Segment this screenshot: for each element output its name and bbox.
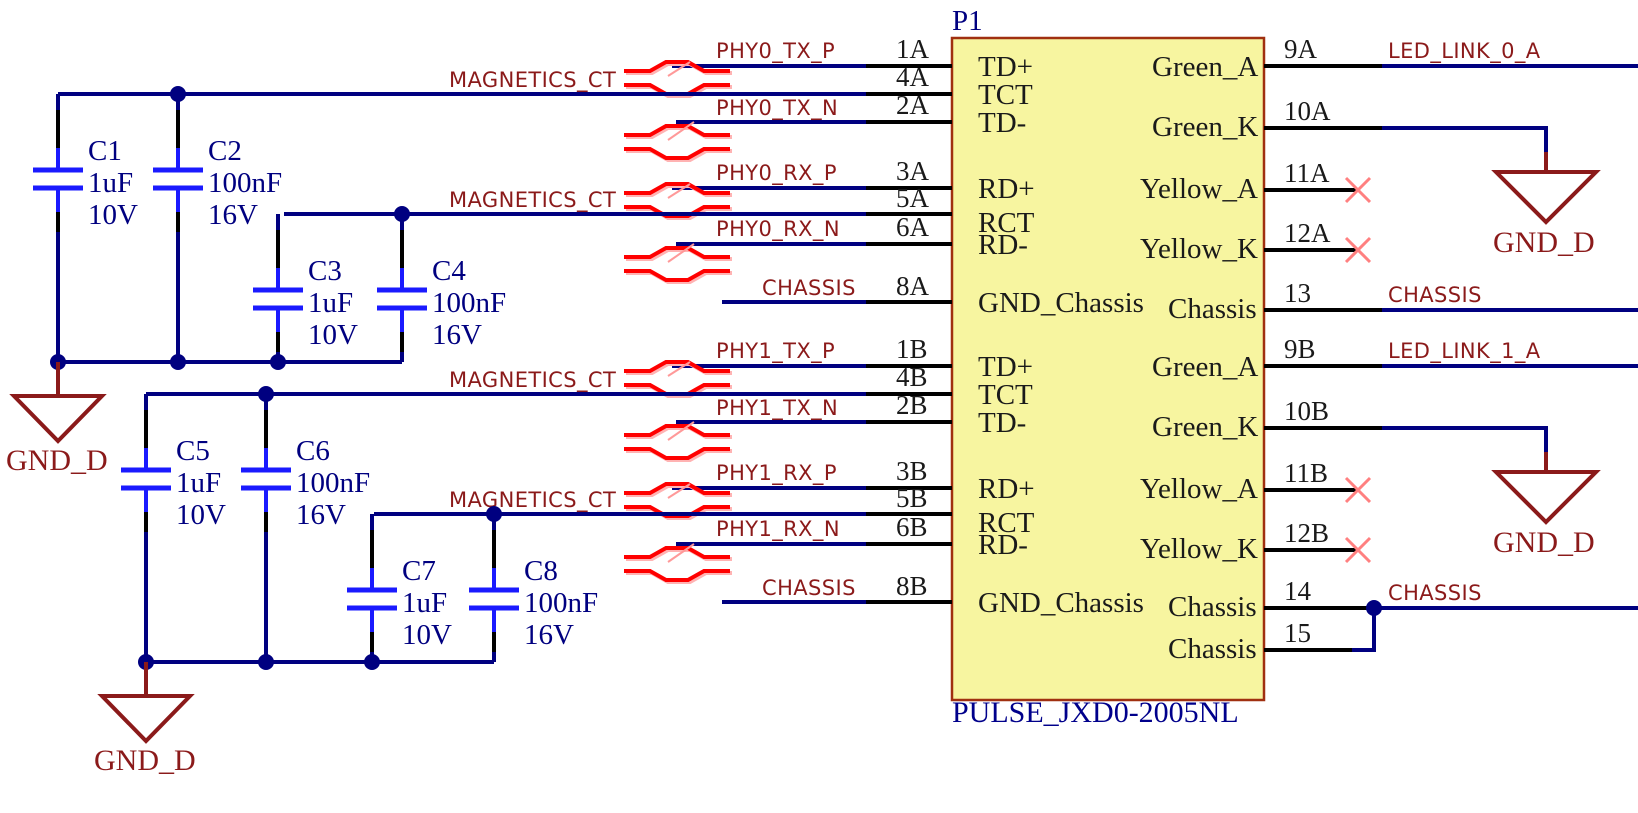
- capacitor-ref-C7: C7: [402, 555, 436, 587]
- capacitor-ref-C4: C4: [432, 255, 466, 287]
- junction-dot-bot-2: [486, 506, 502, 522]
- pin-number-1B: 1B: [896, 334, 928, 364]
- pin-number-9B: 9B: [1284, 334, 1316, 364]
- capacitor-C6[interactable]: C6 100nF 16V: [241, 435, 370, 531]
- capacitor-C4[interactable]: C4 100nF 16V: [377, 255, 506, 351]
- capacitor-ref-C1: C1: [88, 135, 122, 167]
- junction-dot-chassis: [1366, 600, 1382, 616]
- capacitor-C8[interactable]: C8 100nF 16V: [469, 555, 598, 651]
- pin-number-11A: 11A: [1284, 158, 1330, 188]
- pin-number-6A: 6A: [896, 212, 930, 242]
- capacitor-value-C7: 1uF: [402, 587, 447, 619]
- ground-label-3: GND_D: [94, 744, 196, 777]
- pin-number-2A: 2A: [896, 90, 930, 120]
- ground-symbol-2: GND_D: [1493, 152, 1596, 259]
- pin-name-chassis-13: Chassis: [1168, 293, 1257, 325]
- schematic-sheet: P1 PULSE_JXD0-2005NL PHY0_TX_P 1A TD+ MA…: [0, 0, 1638, 813]
- capacitor-value-C8: 100nF: [524, 587, 598, 619]
- net-label-chassis-b[interactable]: CHASSIS: [762, 576, 856, 600]
- pin-name-gnd-chassis-b: GND_Chassis: [978, 587, 1144, 619]
- capacitor-ref-C5: C5: [176, 435, 210, 467]
- ground-symbol-4: GND_D: [1493, 452, 1596, 559]
- pin-number-10B: 10B: [1284, 396, 1329, 426]
- capacitor-voltage-C8: 16V: [524, 619, 574, 651]
- pin-number-3A: 3A: [896, 156, 930, 186]
- capacitor-ref-C8: C8: [524, 555, 558, 587]
- net-label-phy0-tx-n[interactable]: PHY0_TX_N: [716, 96, 838, 121]
- capacitor-value-C5: 1uF: [176, 467, 221, 499]
- capacitor-voltage-C2: 16V: [208, 199, 258, 231]
- capacitor-value-C4: 100nF: [432, 287, 506, 319]
- pin-number-9A: 9A: [1284, 34, 1318, 64]
- pin-row-4A[interactable]: MAGNETICS_CT 4A TCT: [58, 62, 1033, 111]
- capacitor-voltage-C6: 16V: [296, 499, 346, 531]
- ground-symbol-1: GND_D: [6, 362, 108, 477]
- ground-label-1: GND_D: [6, 444, 108, 477]
- junction-dot-top-5: [270, 354, 286, 370]
- pin-number-8A: 8A: [896, 271, 930, 301]
- capacitor-value-C1: 1uF: [88, 167, 133, 199]
- pin-name-RDn-A: RD-: [978, 229, 1028, 261]
- net-label-phy1-rx-n[interactable]: PHY1_RX_N: [716, 517, 840, 542]
- pin-number-3B: 3B: [896, 456, 928, 486]
- net-label-phy0-tx-p[interactable]: PHY0_TX_P: [716, 39, 835, 64]
- pin-number-6B: 6B: [896, 512, 928, 542]
- pin-number-8B: 8B: [896, 571, 928, 601]
- net-label-phy1-tx-p[interactable]: PHY1_TX_P: [716, 339, 835, 364]
- capacitor-voltage-C5: 10V: [176, 499, 226, 531]
- net-label-chassis-14[interactable]: CHASSIS: [1388, 581, 1482, 605]
- pin-number-13: 13: [1284, 278, 1311, 308]
- pin-name-green-k-2: Green_K: [1152, 411, 1258, 443]
- net-label-phy1-tx-n[interactable]: PHY1_TX_N: [716, 396, 838, 421]
- connector-part-number: PULSE_JXD0-2005NL: [952, 696, 1239, 729]
- pin-name-green-a-1: Green_A: [1152, 51, 1258, 83]
- capacitor-voltage-C4: 16V: [432, 319, 482, 351]
- pin-name-yellow-k-2: Yellow_K: [1140, 533, 1258, 565]
- capacitor-voltage-C7: 10V: [402, 619, 452, 651]
- pin-number-4A: 4A: [896, 62, 930, 92]
- pin-name-TDn-B: TD-: [978, 407, 1026, 439]
- pin-name-RDn-B: RD-: [978, 529, 1028, 561]
- capacitor-ref-C2: C2: [208, 135, 242, 167]
- pin-name-yellow-a-2: Yellow_A: [1140, 473, 1258, 505]
- pin-name-chassis-14: Chassis: [1168, 591, 1257, 623]
- net-label-chassis-a[interactable]: CHASSIS: [762, 276, 856, 300]
- connector-designator: P1: [952, 5, 983, 37]
- capacitor-ref-C3: C3: [308, 255, 342, 287]
- junction-dot-bot-1: [258, 386, 274, 402]
- capacitor-C3[interactable]: C3 1uF 10V: [253, 255, 358, 351]
- pin-number-10A: 10A: [1284, 96, 1331, 126]
- net-label-phy1-rx-p[interactable]: PHY1_RX_P: [716, 461, 837, 486]
- pin-name-RDp-B: RD+: [978, 473, 1035, 505]
- net-label-magnetics-ct-4[interactable]: MAGNETICS_CT: [449, 488, 616, 513]
- capacitor-C7[interactable]: C7 1uF 10V: [347, 555, 452, 651]
- capacitor-voltage-C3: 10V: [308, 319, 358, 351]
- pin-number-14: 14: [1284, 576, 1312, 606]
- net-label-magnetics-ct-2[interactable]: MAGNETICS_CT: [449, 188, 616, 213]
- pin-name-green-a-2: Green_A: [1152, 351, 1258, 383]
- pin-name-RDp-A: RD+: [978, 173, 1035, 205]
- capacitor-value-C2: 100nF: [208, 167, 282, 199]
- schematic-canvas[interactable]: P1 PULSE_JXD0-2005NL PHY0_TX_P 1A TD+ MA…: [0, 0, 1638, 813]
- pin-name-gnd-chassis-a: GND_Chassis: [978, 287, 1144, 319]
- capacitor-value-C6: 100nF: [296, 467, 370, 499]
- net-label-chassis-13[interactable]: CHASSIS: [1388, 283, 1482, 307]
- capacitor-ref-C6: C6: [296, 435, 330, 467]
- net-label-magnetics-ct-1[interactable]: MAGNETICS_CT: [449, 68, 616, 93]
- net-label-led-link-1-a[interactable]: LED_LINK_1_A: [1388, 339, 1541, 364]
- net-label-led-link-0-a[interactable]: LED_LINK_0_A: [1388, 39, 1541, 64]
- capacitor-C2[interactable]: C2 100nF 16V: [153, 135, 282, 231]
- pin-number-11B: 11B: [1284, 458, 1328, 488]
- capacitor-voltage-C1: 10V: [88, 199, 138, 231]
- capacitor-C1[interactable]: C1 1uF 10V: [33, 135, 138, 231]
- pin-number-12B: 12B: [1284, 518, 1329, 548]
- pin-name-TDn-A: TD-: [978, 107, 1026, 139]
- pin-number-5A: 5A: [896, 183, 930, 213]
- pin-number-4B: 4B: [896, 362, 928, 392]
- junction-dot-top-1: [170, 86, 186, 102]
- pin-name-green-k-1: Green_K: [1152, 111, 1258, 143]
- junction-dot-top-2: [394, 206, 410, 222]
- pin-number-5B: 5B: [896, 483, 928, 513]
- capacitor-C5[interactable]: C5 1uF 10V: [121, 435, 226, 531]
- ground-label-4: GND_D: [1493, 526, 1595, 559]
- pin-name-yellow-a-1: Yellow_A: [1140, 173, 1258, 205]
- ground-symbol-3: GND_D: [94, 662, 196, 777]
- pin-number-12A: 12A: [1284, 218, 1331, 248]
- pin-number-15: 15: [1284, 618, 1311, 648]
- net-label-phy0-rx-p[interactable]: PHY0_RX_P: [716, 161, 837, 186]
- junction-dot-top-4: [170, 354, 186, 370]
- pin-number-2B: 2B: [896, 390, 928, 420]
- junction-dot-bot-4: [258, 654, 274, 670]
- pin-name-yellow-k-1: Yellow_K: [1140, 233, 1258, 265]
- pin-name-chassis-15: Chassis: [1168, 633, 1257, 665]
- capacitor-value-C3: 1uF: [308, 287, 353, 319]
- ground-label-2: GND_D: [1493, 226, 1595, 259]
- net-label-magnetics-ct-3[interactable]: MAGNETICS_CT: [449, 368, 616, 393]
- net-label-phy0-rx-n[interactable]: PHY0_RX_N: [716, 217, 840, 242]
- junction-dot-bot-5: [364, 654, 380, 670]
- pin-number-1A: 1A: [896, 34, 930, 64]
